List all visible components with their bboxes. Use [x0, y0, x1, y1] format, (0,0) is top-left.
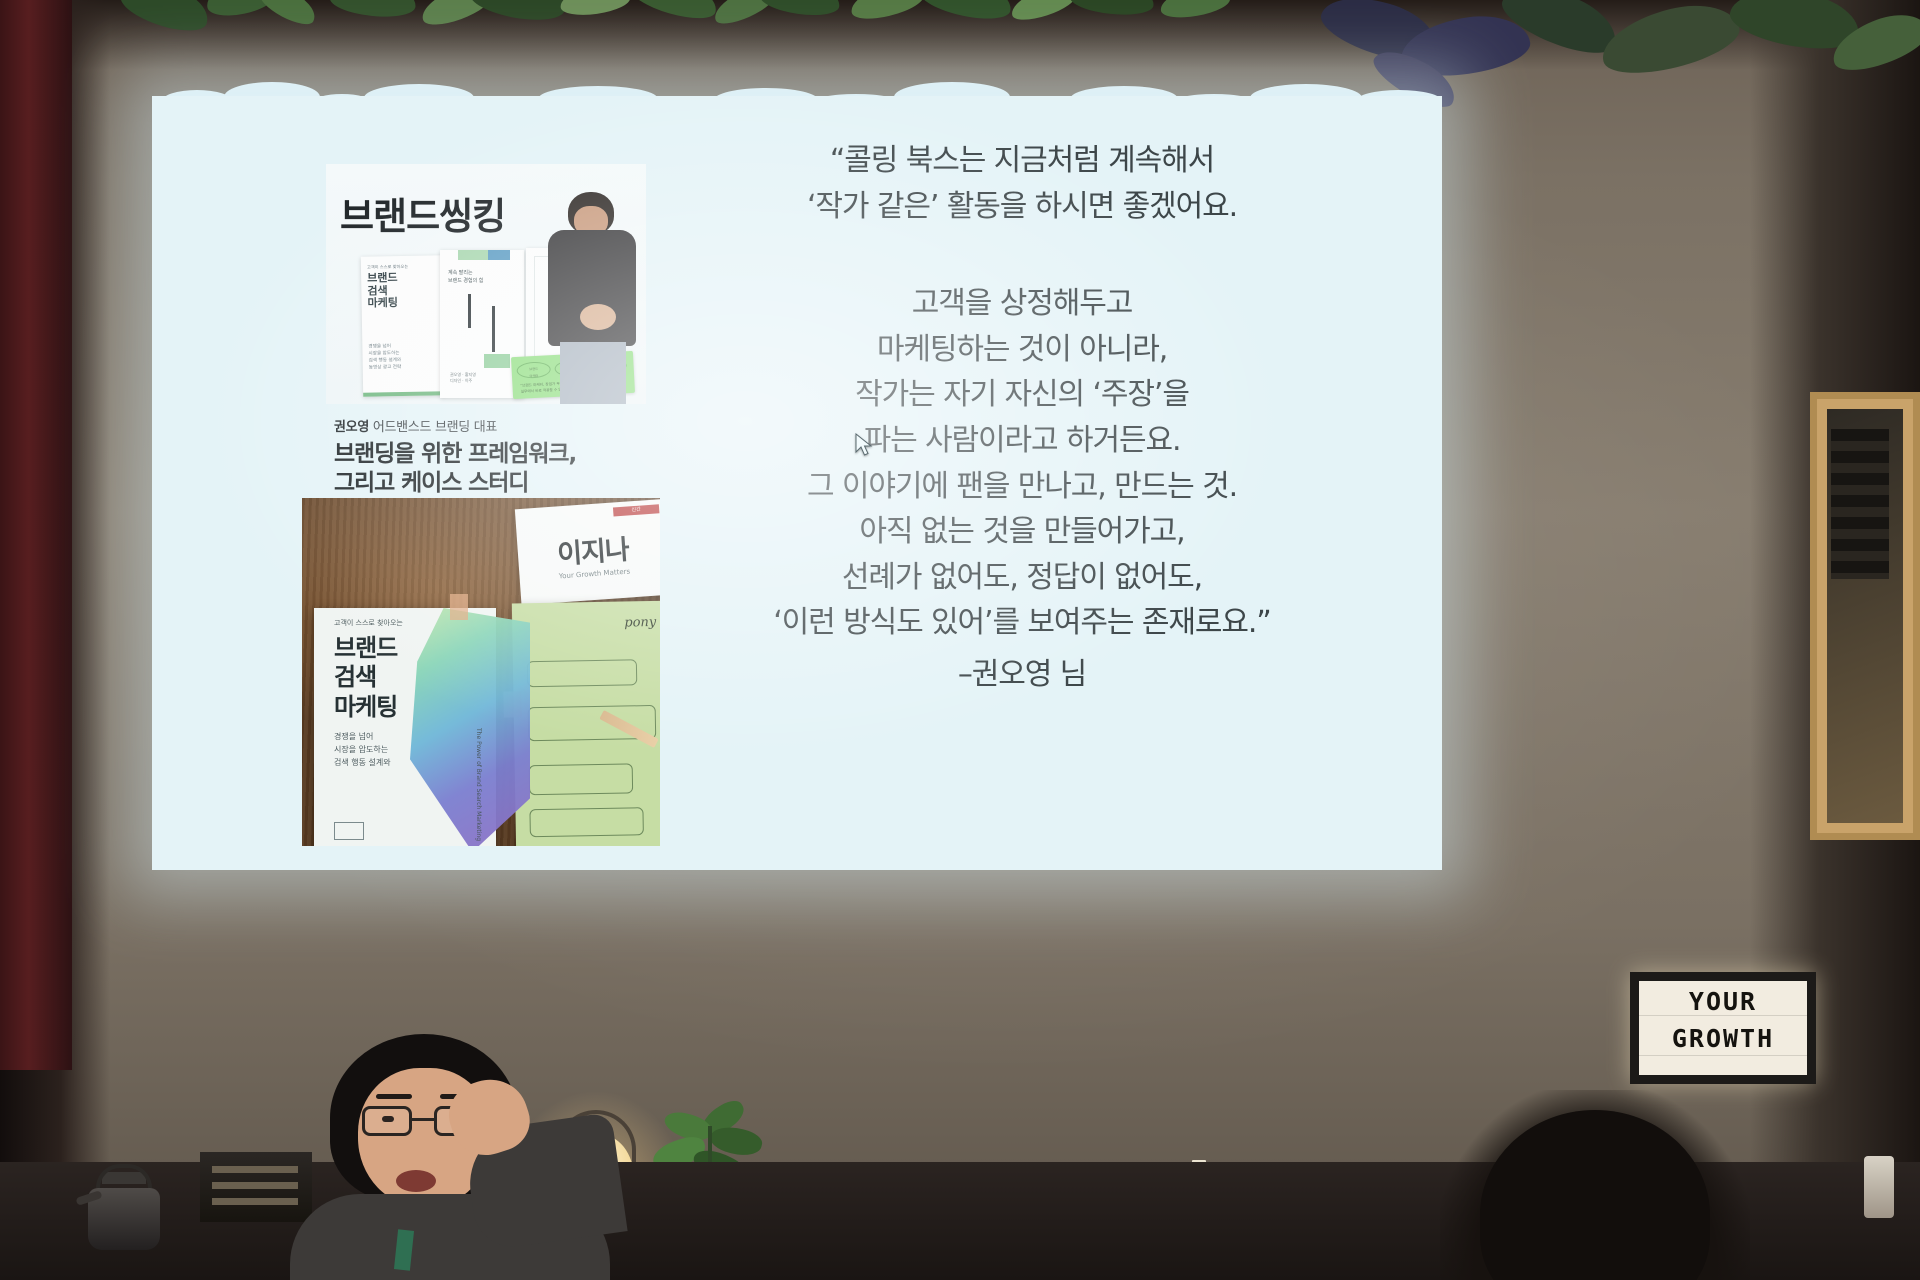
book-cover-overline: 고객이 스스로 찾아오는 [367, 264, 408, 271]
masking-tape [450, 594, 468, 620]
bottle [1864, 1156, 1894, 1218]
quote-line: ‘작가 같은’ 활동을 하시면 좋겠어요. [622, 184, 1422, 230]
quote-line: 고객을 상정해두고 [622, 281, 1422, 327]
big-book-overline: 고객이 스스로 찾아오는 [334, 618, 403, 628]
big-book-subtitle: 경쟁을 넘어시장을 압도하는검색 행동 설계와 [334, 730, 391, 770]
quote-line: 선례가 없어도, 정답이 없어도, [622, 555, 1422, 601]
eyebrow-left [376, 1094, 412, 1099]
person-foreground-2 [1440, 1090, 1750, 1280]
book-ribbon-graphic [410, 608, 530, 846]
brand-thinking-title: 브랜드씽킹 [340, 186, 505, 240]
projected-slide: 브랜드씽킹 고객이 스스로 찾아오는 브랜드검색마케팅 경쟁을 넘어시장을 압도… [152, 96, 1442, 870]
lightbox-line-2: GROWTH [1639, 1024, 1807, 1053]
quote-paragraph-2: 고객을 상정해두고 마케팅하는 것이 아니라, 작가는 자기 자신의 ‘주장’을… [622, 281, 1422, 646]
wall-picture-frame [1810, 392, 1920, 840]
person-foreground [300, 1034, 600, 1280]
quote-line: “콜링 북스는 지금처럼 계속해서 [622, 138, 1422, 184]
book-cover-title: 브랜드검색마케팅 [367, 272, 398, 310]
dark-shelf-box [200, 1152, 312, 1222]
book-cover-subtitle: 경쟁을 넘어시장을 압도하는검색 행동 설계와동영상 광고 전략 [368, 344, 401, 372]
red-curtain [0, 0, 72, 1070]
author-name: 권오영 [334, 420, 369, 435]
brand-thinking-book-photo: 브랜드씽킹 고객이 스스로 찾아오는 브랜드검색마케팅 경쟁을 넘어시장을 압도… [326, 164, 646, 404]
quote-line: 그 이야기에 팬을 만나고, 만드는 것. [622, 464, 1422, 510]
quote-attribution: –권오영 님 [622, 652, 1422, 698]
quote-spacer [622, 235, 1422, 281]
book-2-headline: 계속 팔리는브랜드 경험의 힘 [448, 270, 483, 285]
quote-line: 파는 사람이라고 하거든요. [622, 418, 1422, 464]
author-role: 어드밴스드 브랜딩 대표 [373, 420, 497, 435]
mouth [396, 1170, 436, 1192]
lightbox-line-1: YOUR [1639, 987, 1807, 1016]
quote-line: 아직 없는 것을 만들어가고, [622, 509, 1422, 555]
brand-search-marketing-book: 고객이 스스로 찾아오는 브랜드 검색 마케팅 경쟁을 넘어시장을 압도하는검색… [314, 608, 496, 846]
books-on-wood-desk-photo: 신간 이지나 Your Growth Matters pony 고객이 스스로 … [302, 498, 660, 846]
quote-line: 마케팅하는 것이 아니라, [622, 327, 1422, 373]
quote-line: 작가는 자기 자신의 ‘주장’을 [622, 372, 1422, 418]
quote-block: “콜링 북스는 지금처럼 계속해서 ‘작가 같은’ 활동을 하시면 좋겠어요. … [622, 138, 1422, 698]
quote-paragraph-1: “콜링 북스는 지금처럼 계속해서 ‘작가 같은’ 활동을 하시면 좋겠어요. [622, 138, 1422, 229]
lightbox-sign: YOUR GROWTH [1630, 972, 1816, 1084]
kettle [78, 1170, 170, 1250]
big-book-spine-text: The Power of Brand Search Marketing [475, 728, 482, 841]
screenshot-root: 브랜드씽킹 고객이 스스로 찾아오는 브랜드검색마케팅 경쟁을 넘어시장을 압도… [0, 0, 1920, 1280]
book-cover-search-marketing: 고객이 스스로 찾아오는 브랜드검색마케팅 경쟁을 넘어시장을 압도하는검색 행… [361, 255, 445, 396]
big-book-title: 브랜드 검색 마케팅 [334, 634, 397, 722]
quote-line: ‘이런 방식도 있어’를 보여주는 존재로요.” [622, 600, 1422, 646]
author-credit-line: 권오영 어드밴스드 브랜딩 대표 [334, 416, 664, 435]
